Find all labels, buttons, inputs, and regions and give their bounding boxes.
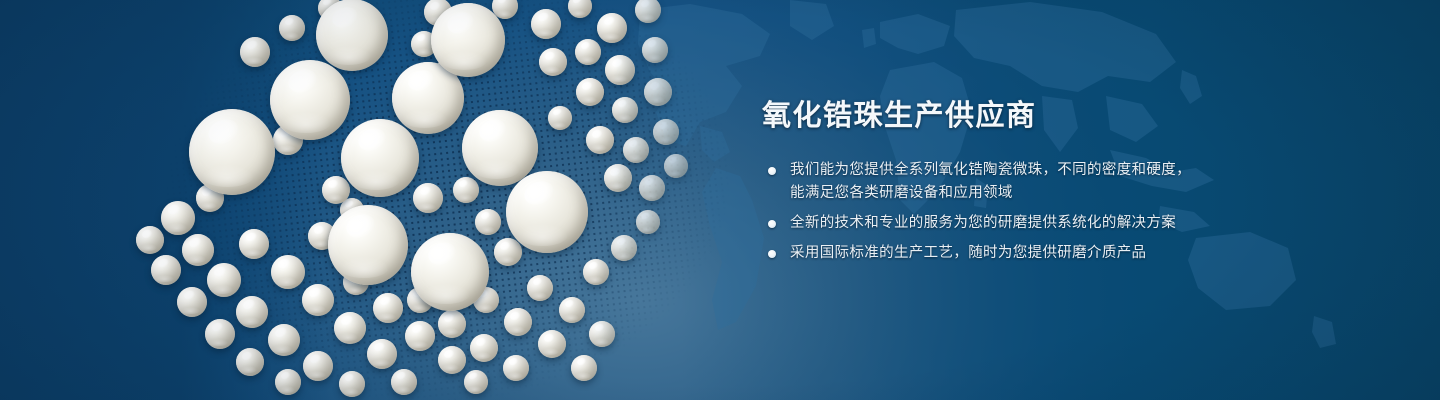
dot-bullet-icon [768,250,776,258]
banner-copy: 氧化锆珠生产供应商 我们能为您提供全系列氧化锆陶瓷微珠，不同的密度和硬度， 能满… [762,100,1282,265]
dot-bullet-icon [768,220,776,228]
feature-bullet-item: 采用国际标准的生产工艺，随时为您提供研磨介质产品 [762,242,1282,265]
hero-banner: 氧化锆珠生产供应商 我们能为您提供全系列氧化锆陶瓷微珠，不同的密度和硬度， 能满… [0,0,1440,400]
dot-bullet-icon [768,167,776,175]
feature-bullet-item: 全新的技术和专业的服务为您的研磨提供系统化的解决方案 [762,212,1282,235]
banner-headline: 氧化锆珠生产供应商 [762,100,1282,133]
feature-bullet-item: 我们能为您提供全系列氧化锆陶瓷微珠，不同的密度和硬度， 能满足您各类研磨设备和应… [762,159,1282,205]
feature-bullet-line: 采用国际标准的生产工艺，随时为您提供研磨介质产品 [790,242,1282,265]
feature-bullet-line: 我们能为您提供全系列氧化锆陶瓷微珠，不同的密度和硬度， [790,159,1282,182]
feature-bullet-list: 我们能为您提供全系列氧化锆陶瓷微珠，不同的密度和硬度， 能满足您各类研磨设备和应… [762,159,1282,265]
feature-bullet-line: 全新的技术和专业的服务为您的研磨提供系统化的解决方案 [790,212,1282,235]
feature-bullet-line: 能满足您各类研磨设备和应用领域 [790,182,1282,205]
